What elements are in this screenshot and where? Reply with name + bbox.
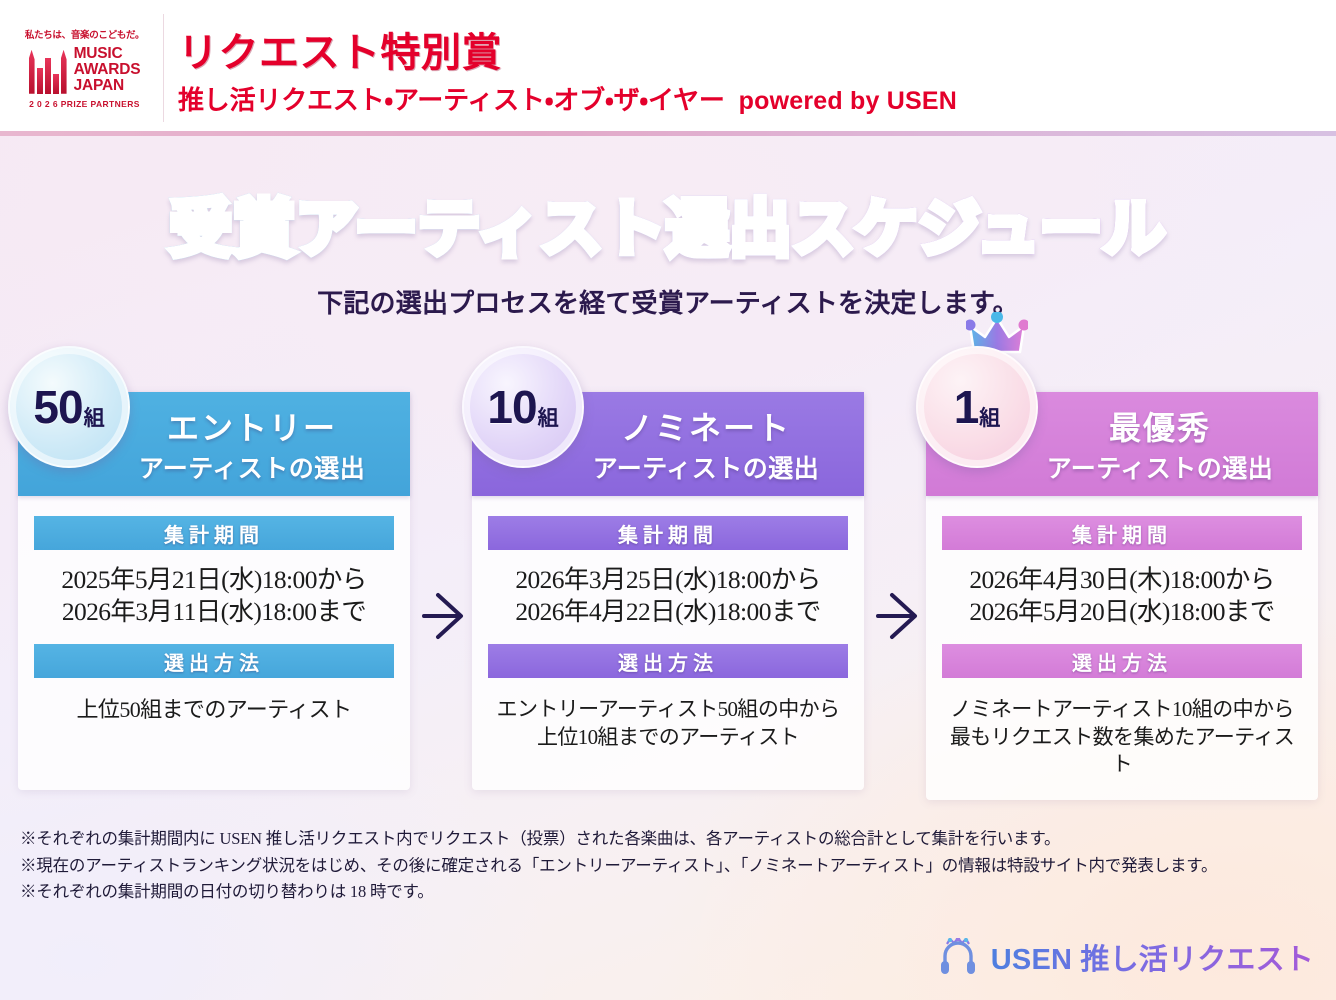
count-badge-10: 10 組 (462, 346, 584, 468)
period-end: 2026年5月20日(水)18:00まで (942, 596, 1302, 628)
badge-unit: 組 (979, 402, 1000, 432)
count-badge-1: 1 組 (916, 346, 1038, 468)
method-line1: エントリーアーティスト50組の中から (488, 696, 848, 723)
period-start: 2026年4月30日(木)18:00から (942, 564, 1302, 596)
card-body-grand-prize: 集計期間 2026年4月30日(木)18:00から 2026年5月20日(水)1… (926, 496, 1318, 800)
music-awards-japan-logo: 私たちは、音楽のこどもだ。 MUSIC AWARDS JAPAN 2 0 2 6… (16, 14, 164, 122)
process-card-grand-prize: 1 組 最優秀 アーティストの選出 集計期間 2026年4月30日(木)18:0… (926, 392, 1318, 800)
logo-prize-partners: 2 0 2 6 PRIZE PARTNERS (29, 99, 140, 109)
badge-number: 10 (487, 384, 536, 430)
headphone-crown-icon (940, 938, 982, 976)
usen-oshikatsu-request-logo: USEN 推し活リクエスト (940, 936, 1314, 978)
count-badge-50: 50 組 (8, 346, 130, 468)
period-start: 2025年5月21日(水)18:00から (34, 564, 394, 596)
bar-chart-icon (29, 48, 67, 94)
schedule-subheading: 下記の選出プロセスを経て受賞アーティストを決定します。 (0, 283, 1336, 320)
period-end: 2026年4月22日(水)18:00まで (488, 596, 848, 628)
schedule-heading: 受賞アーティスト選出スケジュール (0, 178, 1336, 268)
method-text: エントリーアーティスト50組の中から 上位10組までのアーティスト (488, 696, 848, 768)
card-title-line1: ノミネート (548, 403, 864, 449)
period-label: 集計期間 (34, 516, 394, 550)
header-text-block: リクエスト特別賞 推し活リクエスト・アーティスト・オブ・ザ・イヤー powere… (178, 20, 957, 117)
footnote-1: ※それぞれの集計期間内に USEN 推し活リクエスト内でリクエスト（投票）された… (20, 826, 1320, 853)
card-title-line2: アーティストの選出 (548, 449, 864, 485)
arrow-right-icon-2 (876, 588, 920, 644)
logo-tagline: 私たちは、音楽のこどもだ。 (25, 27, 144, 41)
period-label: 集計期間 (488, 516, 848, 550)
card-title-line1: エントリー (94, 403, 410, 449)
logo-name-line1: MUSIC (74, 46, 141, 62)
page-subtitle-row: 推し活リクエスト・アーティスト・オブ・ザ・イヤー powered by USEN (178, 80, 957, 117)
method-text: ノミネートアーティスト10組の中から 最もリクエスト数を集めたアーティスト (942, 696, 1302, 778)
method-line2: 上位10組までのアーティスト (488, 724, 848, 751)
footnotes: ※それぞれの集計期間内に USEN 推し活リクエスト内でリクエスト（投票）された… (20, 826, 1320, 906)
badge-number: 50 (33, 384, 82, 430)
method-line1: 上位50組までのアーティスト (34, 696, 394, 725)
badge-number: 1 (954, 384, 979, 430)
card-body-entry: 集計期間 2025年5月21日(水)18:00から 2026年3月11日(水)1… (18, 496, 410, 790)
page-header: 私たちは、音楽のこどもだ。 MUSIC AWARDS JAPAN 2 0 2 6… (0, 0, 1336, 136)
process-cards: 50 組 エントリー アーティストの選出 集計期間 2025年5月21日(水)1… (0, 392, 1336, 812)
period-end: 2026年3月11日(水)18:00まで (34, 596, 394, 628)
method-text: 上位50組までのアーティスト (34, 696, 394, 768)
method-line2: 最もリクエスト数を集めたアーティスト (942, 724, 1302, 779)
method-line1: ノミネートアーティスト10組の中から (942, 696, 1302, 723)
logo-name-line3: JAPAN (74, 78, 141, 94)
badge-unit: 組 (538, 402, 559, 432)
process-card-entry: 50 組 エントリー アーティストの選出 集計期間 2025年5月21日(水)1… (18, 392, 410, 790)
arrow-right-icon-1 (422, 588, 466, 644)
badge-unit: 組 (84, 402, 105, 432)
period-dates: 2026年3月25日(水)18:00から 2026年4月22日(水)18:00ま… (488, 564, 848, 628)
card-title-line1: 最優秀 (1002, 403, 1318, 449)
card-title-line2: アーティストの選出 (94, 449, 410, 485)
method-label: 選出方法 (34, 644, 394, 678)
footnote-3: ※それぞれの集計期間の日付の切り替わりは 18 時です。 (20, 879, 1320, 906)
process-card-nominee: 10 組 ノミネート アーティストの選出 集計期間 2026年3月25日(水)1… (472, 392, 864, 790)
period-dates: 2026年4月30日(木)18:00から 2026年5月20日(水)18:00ま… (942, 564, 1302, 628)
usen-logo-text: USEN 推し活リクエスト (991, 936, 1314, 978)
logo-name-line2: AWARDS (74, 62, 141, 78)
period-label: 集計期間 (942, 516, 1302, 550)
powered-by-label: powered by USEN (739, 87, 957, 116)
method-label: 選出方法 (942, 644, 1302, 678)
card-body-nominee: 集計期間 2026年3月25日(水)18:00から 2026年4月22日(水)1… (472, 496, 864, 790)
period-start: 2026年3月25日(水)18:00から (488, 564, 848, 596)
method-label: 選出方法 (488, 644, 848, 678)
page-subtitle: 推し活リクエスト・アーティスト・オブ・ザ・イヤー (178, 80, 725, 117)
card-title-line2: アーティストの選出 (1002, 449, 1318, 485)
period-dates: 2025年5月21日(水)18:00から 2026年3月11日(水)18:00ま… (34, 564, 394, 628)
page-title: リクエスト特別賞 (178, 20, 957, 78)
footnote-2: ※現在のアーティストランキング状況をはじめ、その後に確定される「エントリーアーテ… (20, 853, 1320, 880)
